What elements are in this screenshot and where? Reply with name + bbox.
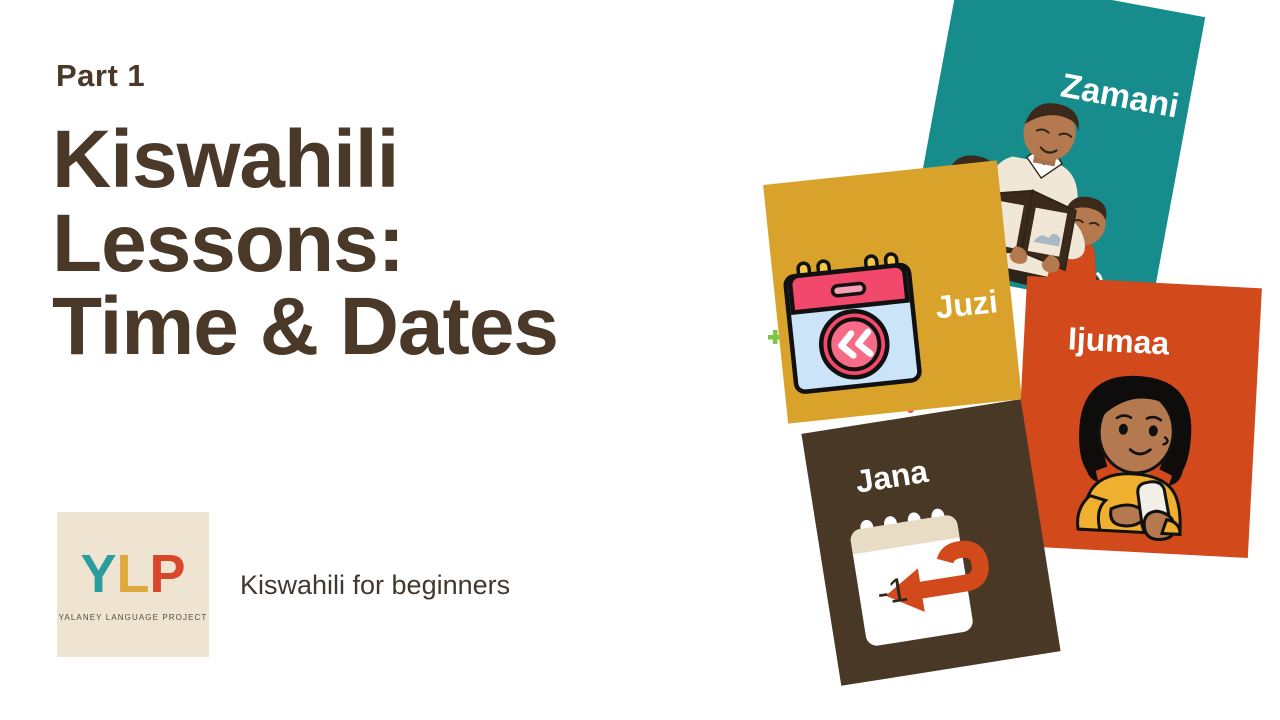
card-jana-label: Jana [853,453,931,501]
ylp-logo: YLP YALANEY LANGUAGE PROJECT [57,512,209,657]
slide-canvas: Part 1 Kiswahili Lessons: Time & Dates Y… [0,0,1280,720]
title-line-1: Kiswahili [52,118,752,202]
logo-letters: YLP [80,547,185,601]
logo-subtitle: YALANEY LANGUAGE PROJECT [59,613,208,622]
part-label: Part 1 [56,58,145,94]
svg-text:-1: -1 [874,571,910,613]
page-title: Kiswahili Lessons: Time & Dates [52,118,752,369]
card-juzi-label: Juzi [934,283,1000,326]
calendar-rewind-icon [773,248,927,402]
tagline: Kiswahili for beginners [240,570,510,601]
card-jana[interactable]: Jana -1 [801,399,1060,686]
title-line-3: Time & Dates [52,285,752,369]
calendar-minus-one-back-arrow-icon: -1 [840,499,1019,657]
card-ijumaa-label: Ijumaa [1067,320,1170,362]
card-juzi[interactable]: Juzi [763,160,1022,423]
woman-with-phone-illustration [1048,366,1225,545]
logo-letter-p: P [150,547,186,601]
title-line-2: Lessons: [52,202,752,286]
logo-letter-y: Y [80,547,116,601]
logo-letter-l: L [117,547,150,601]
card-ijumaa[interactable]: Ijumaa [1013,276,1262,558]
